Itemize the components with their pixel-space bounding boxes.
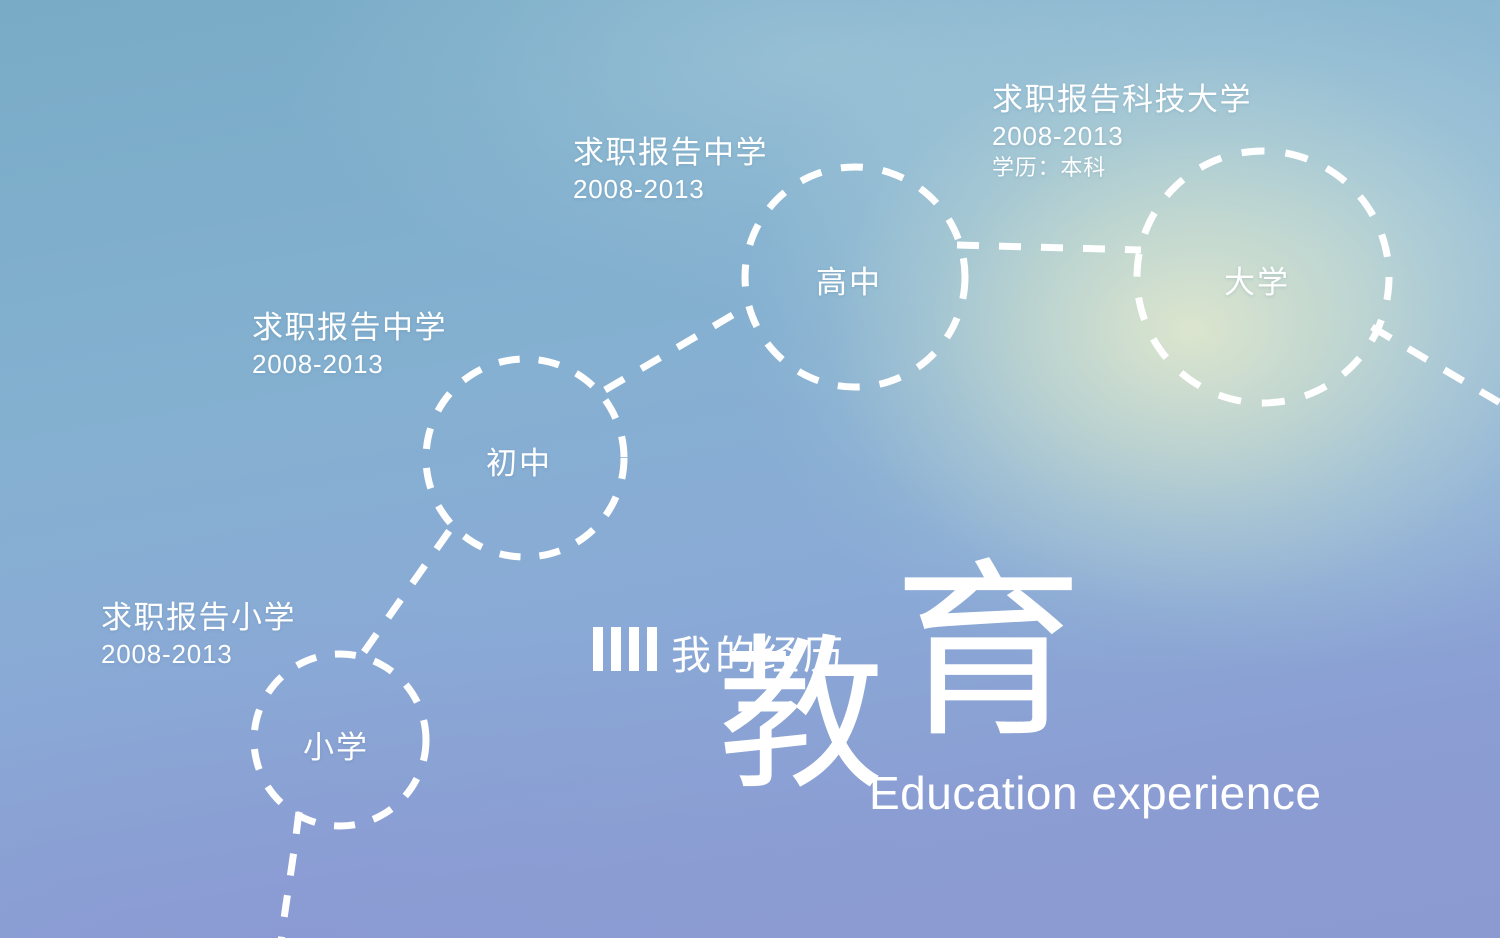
info-years-primary: 2008-2013	[101, 638, 296, 672]
info-degree-university: 学历：本科	[992, 153, 1252, 183]
connector-tail-right	[1372, 327, 1500, 404]
bars-icon	[593, 627, 657, 671]
info-years-senior: 2008-2013	[573, 173, 768, 207]
connector-tail-bottom	[281, 812, 299, 938]
info-block-junior: 求职报告中学 2008-2013	[252, 308, 447, 381]
slide-canvas: 小学 初中 高中 大学 求职报告小学 2008-2013 求职报告中学 2008…	[0, 0, 1500, 938]
connector-senior-university	[957, 245, 1141, 250]
info-title-senior: 求职报告中学	[573, 133, 768, 173]
node-circle-university[interactable]	[1137, 151, 1389, 403]
info-block-primary: 求职报告小学 2008-2013	[101, 598, 296, 671]
info-block-university: 求职报告科技大学 2008-2013 学历：本科	[992, 80, 1252, 183]
node-circle-senior[interactable]	[745, 167, 965, 387]
info-years-junior: 2008-2013	[252, 348, 447, 382]
connector-primary-junior	[364, 527, 452, 652]
heading-char-jiao: 教	[718, 634, 890, 800]
info-title-junior: 求职报告中学	[252, 308, 447, 348]
info-title-university: 求职报告科技大学	[992, 80, 1252, 120]
node-circle-junior[interactable]	[426, 359, 624, 557]
info-block-senior: 求职报告中学 2008-2013	[573, 133, 768, 206]
info-years-university: 2008-2013	[992, 120, 1252, 154]
heading-char-yu: 育	[893, 558, 1089, 748]
subtitle-english: Education experience	[869, 766, 1321, 820]
connector-junior-senior	[605, 306, 748, 390]
node-circle-primary[interactable]	[254, 654, 426, 826]
title-block: 我的经历 教 育 Education experience	[586, 596, 1346, 836]
info-title-primary: 求职报告小学	[101, 598, 296, 638]
